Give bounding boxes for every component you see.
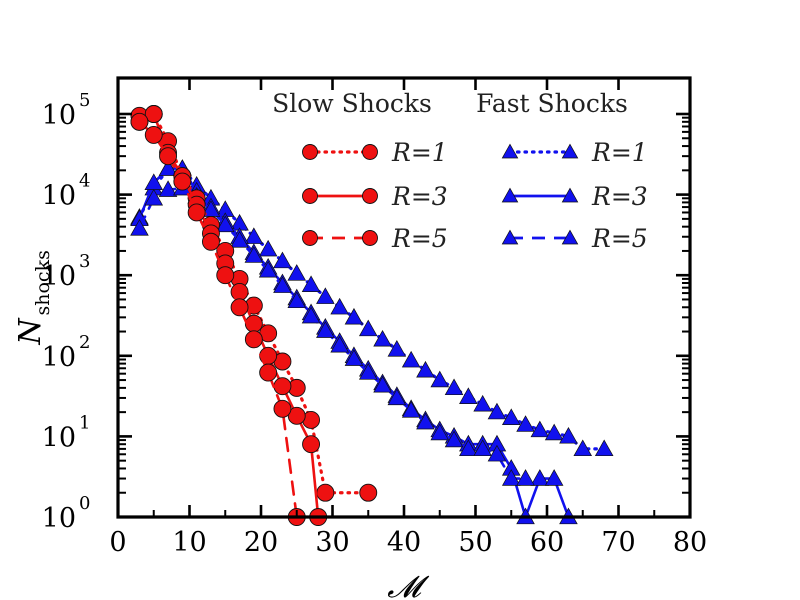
shock-distribution-chart: 01020304050607080100101102103104105 𝓜Nsh… xyxy=(0,0,800,600)
data-point-circle xyxy=(274,400,291,417)
svg-text:10: 10 xyxy=(42,100,76,131)
x-tick-label: 20 xyxy=(244,527,278,558)
svg-text:shocks: shocks xyxy=(32,250,54,315)
svg-text:3: 3 xyxy=(79,251,90,272)
data-point-circle xyxy=(260,364,277,381)
legend-entry-label: R=5 xyxy=(391,224,448,253)
svg-text:4: 4 xyxy=(79,171,90,192)
data-point-circle xyxy=(363,231,378,246)
svg-text:2: 2 xyxy=(79,332,90,353)
data-point-circle xyxy=(303,436,320,453)
data-point-circle xyxy=(303,145,318,160)
data-point-circle xyxy=(317,484,334,501)
data-point-circle xyxy=(363,189,378,204)
legend-entry-label: R=5 xyxy=(591,224,648,253)
x-tick-label: 10 xyxy=(172,527,206,558)
data-point-circle xyxy=(217,267,234,284)
data-point-circle xyxy=(245,331,262,348)
data-point-circle xyxy=(360,484,377,501)
data-point-circle xyxy=(231,283,248,300)
x-tick-label: 30 xyxy=(315,527,349,558)
data-point-circle xyxy=(363,145,378,160)
data-point-circle xyxy=(160,148,177,165)
data-point-circle xyxy=(274,378,291,395)
svg-text:N: N xyxy=(13,317,48,346)
x-tick-label: 50 xyxy=(458,527,492,558)
data-point-circle xyxy=(188,204,205,221)
data-point-circle xyxy=(303,189,318,204)
x-tick-label: 60 xyxy=(530,527,564,558)
svg-text:10: 10 xyxy=(42,503,76,534)
x-tick-label: 80 xyxy=(673,527,707,558)
svg-text:10: 10 xyxy=(42,181,76,212)
x-tick-label: 0 xyxy=(109,527,126,558)
x-tick-label: 70 xyxy=(601,527,635,558)
legend-entry-label: R=3 xyxy=(591,182,648,211)
legend-entry-label: R=3 xyxy=(391,182,448,211)
svg-text:10: 10 xyxy=(42,422,76,453)
legend-entry-label: R=1 xyxy=(591,138,648,167)
legend-entry-label: R=1 xyxy=(391,138,448,167)
data-point-circle xyxy=(303,231,318,246)
svg-text:0: 0 xyxy=(79,493,90,514)
data-point-circle xyxy=(131,113,148,130)
figure-container: 01020304050607080100101102103104105 𝓜Nsh… xyxy=(0,0,800,600)
svg-text:5: 5 xyxy=(79,90,90,111)
data-point-circle xyxy=(174,173,191,190)
data-point-circle xyxy=(231,299,248,316)
svg-text:10: 10 xyxy=(42,342,76,373)
legend-title: Fast Shocks xyxy=(476,89,628,118)
legend-title: Slow Shocks xyxy=(272,89,432,118)
data-point-circle xyxy=(145,126,162,143)
svg-text:1: 1 xyxy=(79,412,90,433)
data-point-circle xyxy=(202,233,219,250)
x-tick-label: 40 xyxy=(387,527,421,558)
